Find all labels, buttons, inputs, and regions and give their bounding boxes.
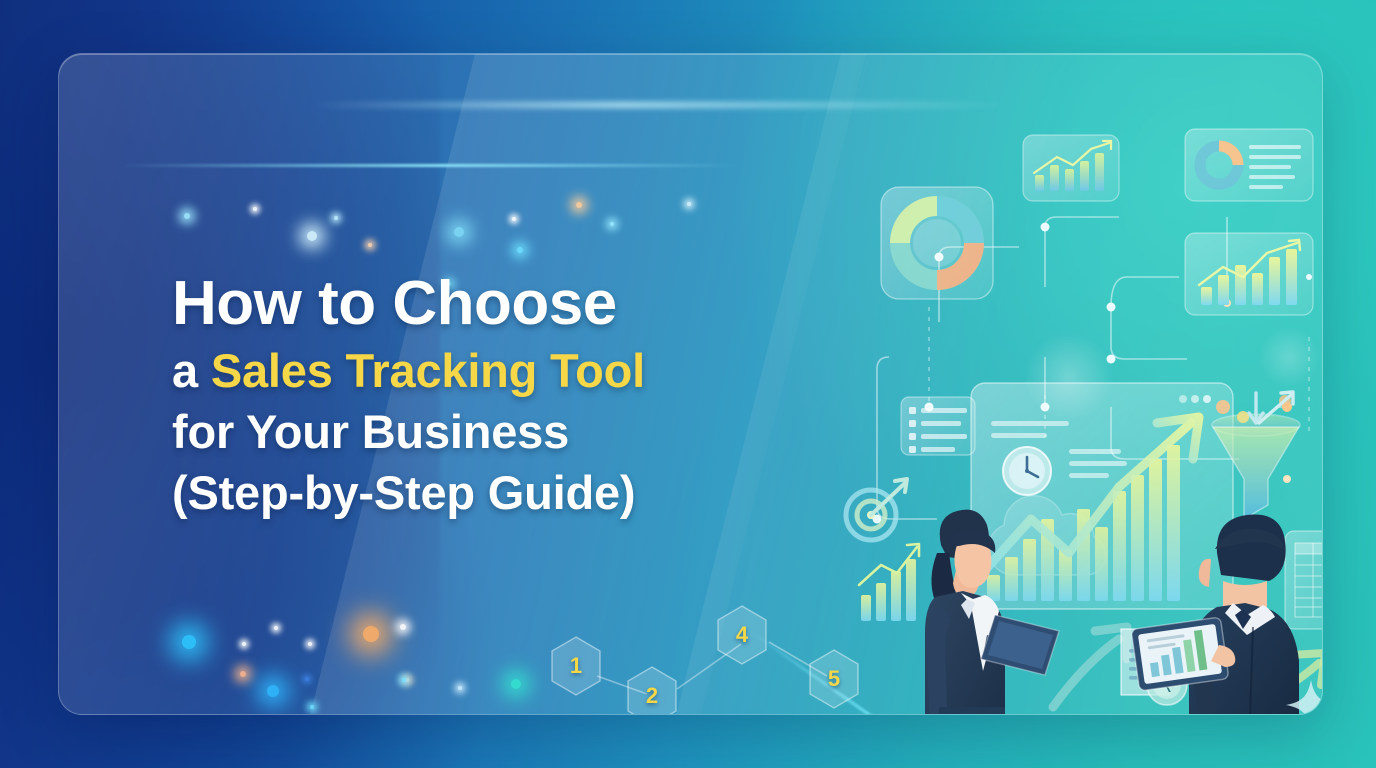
glow-particle: [576, 202, 582, 208]
bar-chart-card-right: [1185, 233, 1313, 315]
glow-particle: [363, 626, 379, 642]
headline-block: How to Choose a Sales Tracking Tool for …: [172, 272, 872, 523]
step-hexagon-2[interactable]: 2: [625, 666, 679, 715]
glow-particle: [267, 685, 279, 697]
tablet-man: [1131, 617, 1235, 691]
headline-line-4: (Step-by-Step Guide): [172, 462, 872, 523]
glow-particle: [274, 626, 278, 630]
glow-particle: [454, 227, 464, 237]
glow-particle: [368, 243, 372, 247]
step-number-label: 4: [715, 605, 769, 665]
donut-chart-card: [881, 187, 993, 299]
glow-particle: [334, 216, 338, 220]
glow-particle: [610, 222, 614, 226]
glow-particle: [517, 247, 523, 253]
headline-line-3: for Your Business: [172, 401, 872, 462]
glow-particle: [242, 642, 246, 646]
glow-particle: [240, 671, 246, 677]
glow-particle: [400, 624, 406, 630]
step-number-label: 2: [625, 666, 679, 715]
glow-particle: [305, 677, 309, 681]
curved-arrow-left-icon: [1053, 627, 1127, 707]
glow-particle: [253, 207, 257, 211]
glow-particle: [307, 231, 317, 241]
dashboard-window: [971, 383, 1233, 609]
glow-particle: [687, 202, 691, 206]
glass-panel: How to Choose a Sales Tracking Tool for …: [58, 53, 1323, 715]
glow-particle: [402, 678, 406, 682]
window-dots: [1179, 395, 1211, 403]
headline-accent: Sales Tracking Tool: [211, 344, 645, 397]
step-number-label: 1: [549, 636, 603, 696]
checklist-card: [901, 397, 975, 455]
clock-icon: [1003, 447, 1051, 495]
step-hexagon-4[interactable]: 4: [715, 605, 769, 665]
glow-particle: [184, 213, 190, 219]
glow-particle: [308, 642, 312, 646]
glow-particle: [512, 217, 516, 221]
glow-particle: [310, 705, 314, 709]
headline-line-2-prefix: a: [172, 344, 211, 397]
sparkle-icon: [1284, 678, 1323, 715]
small-bar-chart: [859, 544, 919, 621]
glow-particle: [511, 679, 521, 689]
glow-particle: [458, 686, 462, 690]
target-icon: [846, 479, 907, 540]
step-hexagon-1[interactable]: 1: [549, 636, 603, 696]
donut-with-text-card: [1185, 129, 1313, 201]
banner-stage: How to Choose a Sales Tracking Tool for …: [0, 0, 1376, 768]
bar-chart-card-top: [1023, 135, 1119, 201]
illustration-scene: ₹: [819, 107, 1323, 715]
headline-line-1: How to Choose: [172, 272, 872, 336]
glow-particle: [182, 635, 196, 649]
headline-line-2: a Sales Tracking Tool: [172, 340, 872, 401]
spreadsheet-card: [1285, 531, 1323, 629]
illustration-svg: ₹: [819, 107, 1323, 715]
